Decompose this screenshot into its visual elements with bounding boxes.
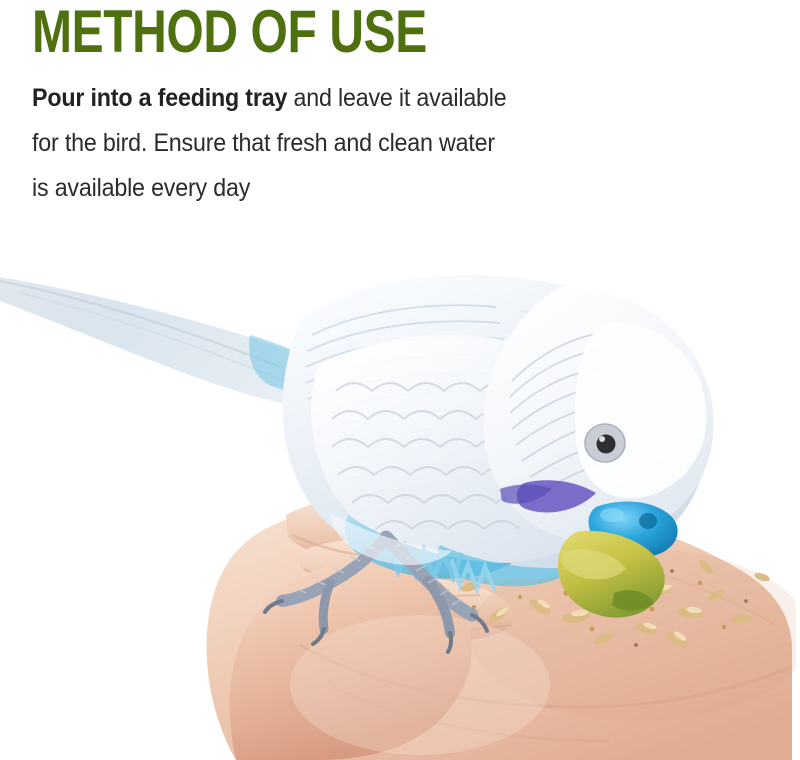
- instructions-line3: is available every day: [32, 174, 250, 202]
- nostril: [639, 513, 657, 529]
- instructions-line1-rest: and leave it available: [287, 84, 506, 112]
- product-info-panel: METHOD OF USE Pour into a feeding tray a…: [0, 0, 800, 760]
- text-block: METHOD OF USE Pour into a feeding tray a…: [32, 0, 732, 211]
- cere-highlight: [600, 508, 624, 522]
- photo-top-fade: [0, 215, 800, 231]
- bird-eye: [585, 424, 625, 462]
- instructions-paragraph: Pour into a feeding tray and leave it av…: [32, 76, 683, 211]
- product-photo: [0, 215, 800, 760]
- instructions-line2: for the bird. Ensure that fresh and clea…: [32, 129, 495, 157]
- bird-in-hand-illustration: [0, 215, 800, 760]
- instructions-lead-bold: Pour into a feeding tray: [32, 84, 287, 112]
- page-title: METHOD OF USE: [32, 0, 592, 64]
